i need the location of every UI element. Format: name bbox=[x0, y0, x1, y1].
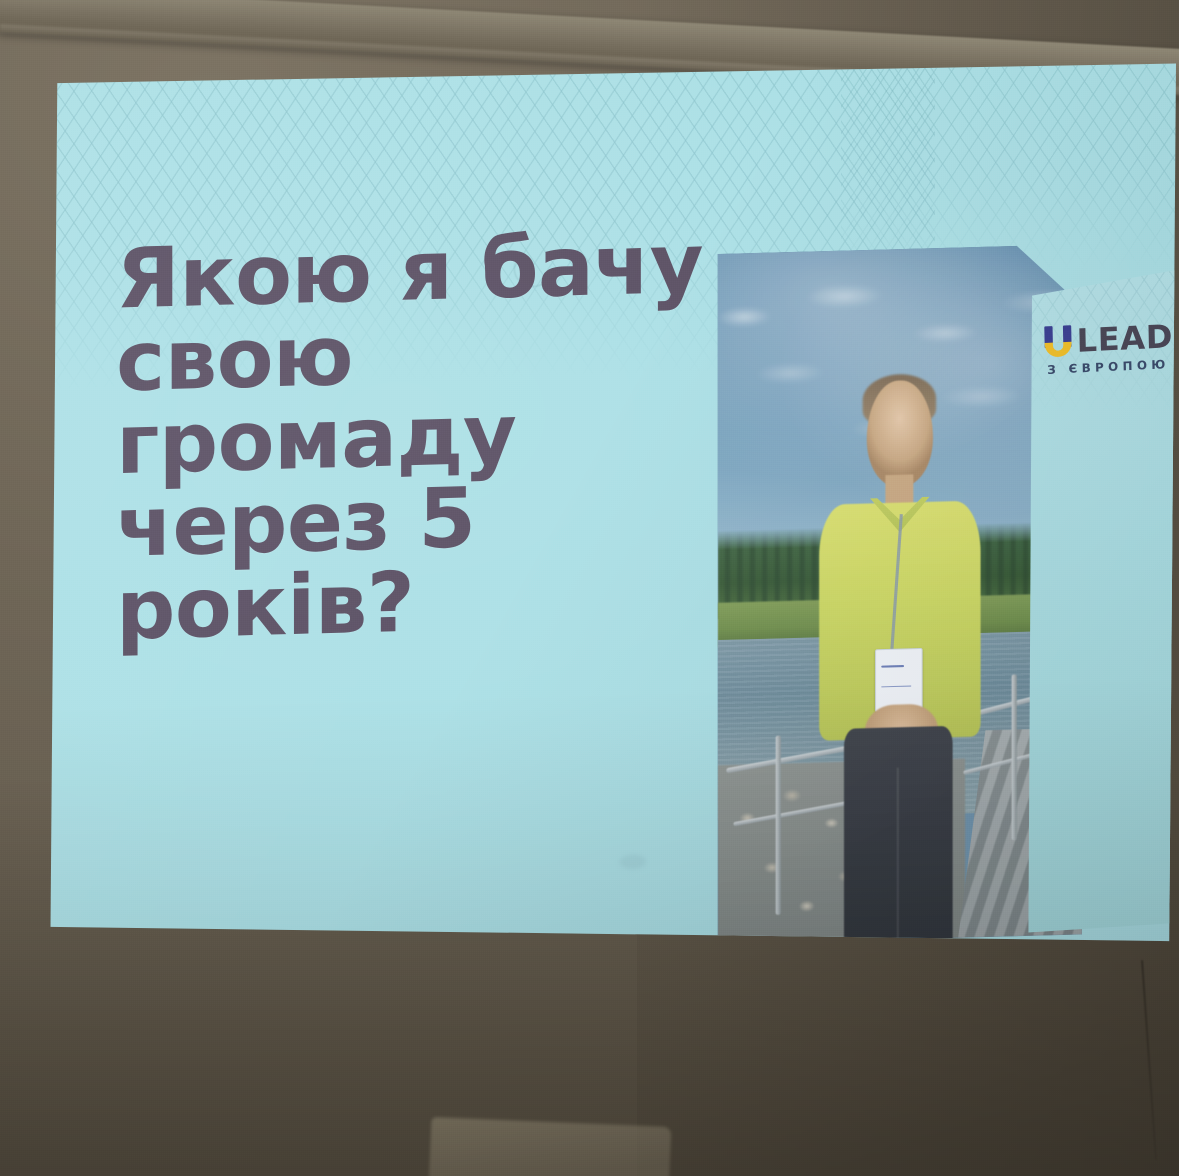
furniture-silhouette bbox=[429, 1117, 672, 1176]
lens-flare-artifact bbox=[619, 854, 646, 869]
ulead-wordmark: LEAD bbox=[1076, 324, 1173, 356]
logo-panel: LEAD З ЄВРОПОЮ bbox=[1028, 264, 1176, 932]
headline-line-1: Якою я бачу bbox=[116, 220, 771, 321]
u-mark-yellow-cup bbox=[1044, 342, 1071, 358]
photo-projector-wash bbox=[717, 244, 1082, 945]
chevron-pattern-secondary-icon bbox=[841, 60, 1176, 278]
slide-headline: Якою я бачу свою громаду через 5 років? bbox=[116, 220, 771, 652]
ulead-logo: LEAD З ЄВРОПОЮ bbox=[1044, 319, 1176, 377]
ulead-u-mark-icon bbox=[1044, 325, 1072, 357]
projection-screen[interactable]: Якою я бачу свою громаду через 5 років? bbox=[46, 60, 1176, 950]
slide-surface: Якою я бачу свою громаду через 5 років? bbox=[46, 60, 1176, 950]
participant-photo bbox=[717, 244, 1082, 945]
room-scene: Якою я бачу свою громаду через 5 років? bbox=[0, 0, 1179, 1176]
ulead-logo-row: LEAD bbox=[1044, 319, 1176, 357]
